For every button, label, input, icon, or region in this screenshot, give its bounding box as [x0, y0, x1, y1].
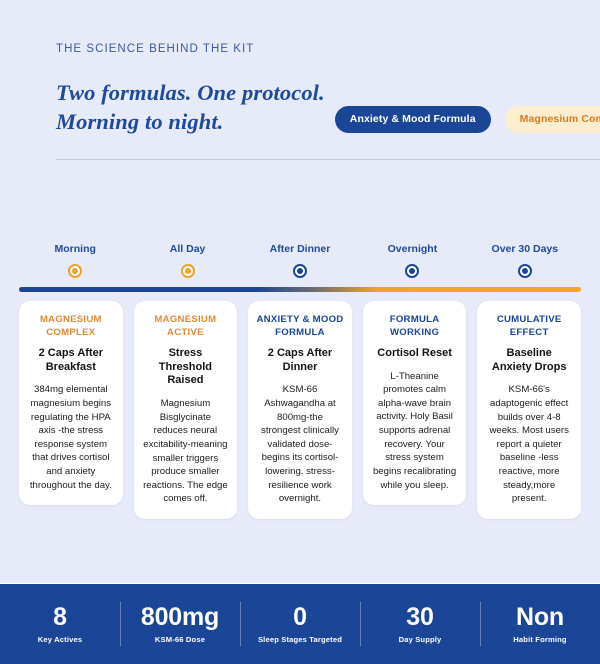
timeline-step-label: Morning [55, 244, 96, 255]
timeline: Morning All Day After Dinner Overnight O… [0, 244, 600, 293]
card-kicker: FORMULA WORKING [371, 314, 459, 339]
stat-label: Key Actives [0, 636, 120, 644]
infographic-page: THE SCIENCE BEHIND THE KIT Two formulas.… [0, 0, 600, 664]
eyebrow-text: THE SCIENCE BEHIND THE KIT [56, 44, 600, 56]
header: THE SCIENCE BEHIND THE KIT Two formulas.… [0, 0, 600, 160]
timeline-step-over-30-days[interactable]: Over 30 Days [469, 244, 581, 288]
timeline-dot-icon [68, 264, 82, 278]
timeline-dot-icon [518, 264, 532, 278]
card-kicker: MAGNESIUM COMPLEX [27, 314, 115, 339]
card-title: Stress Threshold Raised [142, 347, 230, 388]
stat-value: Non [480, 604, 600, 632]
stat-label: KSM-66 Dose [120, 636, 240, 644]
card-title: Baseline Anxiety Drops [485, 347, 573, 375]
stats-bar: 8 Key Actives 800mg KSM-66 Dose 0 Sleep … [0, 583, 600, 664]
stat-key-actives: 8 Key Actives [0, 600, 120, 648]
timeline-dot-icon [181, 264, 195, 278]
timeline-step-label: Overnight [388, 244, 438, 255]
headline-line-2: Morning to night. [56, 109, 223, 134]
stat-ksm66-dose: 800mg KSM-66 Dose [120, 600, 240, 648]
stat-value: 8 [0, 604, 120, 632]
headline-row: Two formulas. One protocol. Morning to n… [56, 78, 600, 137]
timeline-labels: Morning All Day After Dinner Overnight O… [19, 244, 581, 288]
protocol-card-formula-working[interactable]: FORMULA WORKING Cortisol Reset L-Theanin… [363, 301, 467, 505]
page-title: Two formulas. One protocol. Morning to n… [56, 78, 325, 137]
formula-pill-group: Anxiety & Mood Formula Magnesium Complex [335, 106, 600, 137]
timeline-dot-icon [405, 264, 419, 278]
timeline-step-label: After Dinner [270, 244, 331, 255]
timeline-step-overnight[interactable]: Overnight [356, 244, 468, 288]
timeline-step-label: Over 30 Days [492, 244, 559, 255]
protocol-card-magnesium-complex[interactable]: MAGNESIUM COMPLEX 2 Caps After Breakfast… [19, 301, 123, 505]
stat-label: Day Supply [360, 636, 480, 644]
card-body: Magnesium Bisglycinate reduces neural ex… [142, 397, 230, 506]
protocol-card-anxiety-mood-formula[interactable]: ANXIETY & MOOD FORMULA 2 Caps After Dinn… [248, 301, 352, 519]
headline-line-1: Two formulas. One protocol. [56, 80, 325, 105]
card-kicker: ANXIETY & MOOD FORMULA [256, 314, 344, 339]
timeline-step-label: All Day [170, 244, 206, 255]
card-body: KSM-66's adaptogenic effect builds over … [485, 383, 573, 505]
card-title: 2 Caps After Dinner [256, 347, 344, 375]
stat-label: Habit Forming [480, 636, 600, 644]
timeline-step-after-dinner[interactable]: After Dinner [244, 244, 356, 288]
card-title: Cortisol Reset [371, 347, 459, 361]
stat-day-supply: 30 Day Supply [360, 600, 480, 648]
stat-habit-forming: Non Habit Forming [480, 600, 600, 648]
header-divider [56, 159, 600, 160]
pill-magnesium-complex[interactable]: Magnesium Complex [505, 106, 600, 133]
timeline-step-morning[interactable]: Morning [19, 244, 131, 288]
protocol-card-list: MAGNESIUM COMPLEX 2 Caps After Breakfast… [0, 292, 600, 519]
timeline-dot-icon [293, 264, 307, 278]
protocol-card-cumulative-effect[interactable]: CUMULATIVE EFFECT Baseline Anxiety Drops… [477, 301, 581, 519]
card-kicker: CUMULATIVE EFFECT [485, 314, 573, 339]
card-kicker: MAGNESIUM ACTIVE [142, 314, 230, 339]
timeline-step-all-day[interactable]: All Day [131, 244, 243, 288]
stat-label: Sleep Stages Targeted [240, 636, 360, 644]
protocol-card-magnesium-active[interactable]: MAGNESIUM ACTIVE Stress Threshold Raised… [134, 301, 238, 519]
stat-sleep-stages-targeted: 0 Sleep Stages Targeted [240, 600, 360, 648]
card-title: 2 Caps After Breakfast [27, 347, 115, 375]
stat-value: 800mg [120, 604, 240, 632]
stat-value: 30 [360, 604, 480, 632]
card-body: 384mg elemental magnesium begins regulat… [27, 383, 115, 492]
stat-value: 0 [240, 604, 360, 632]
card-body: KSM-66 Ashwagandha at 800mg-the stronges… [256, 383, 344, 505]
pill-anxiety-mood-formula[interactable]: Anxiety & Mood Formula [335, 106, 491, 133]
card-body: L-Theanine promotes calm alpha-wave brai… [371, 370, 459, 492]
